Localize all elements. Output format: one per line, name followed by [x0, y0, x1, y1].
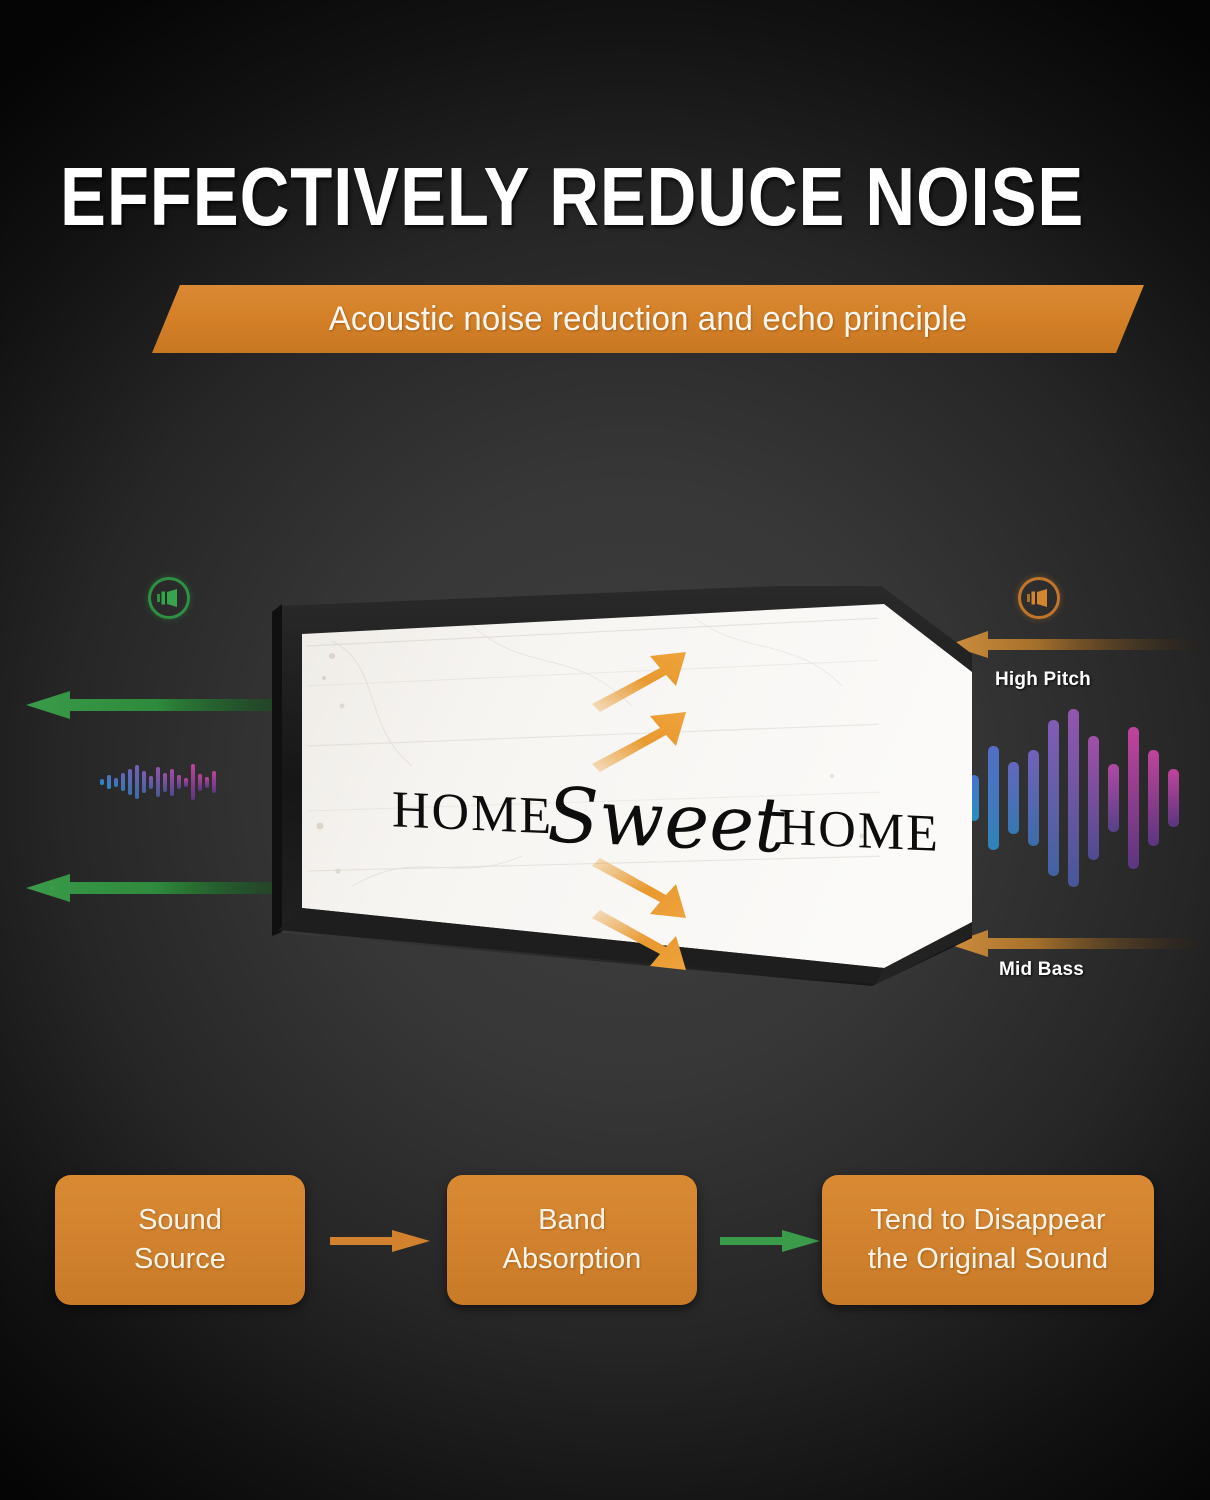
waveform-bar [212, 771, 216, 793]
waveform-bar [1168, 769, 1179, 827]
waveform-bar [1028, 750, 1039, 846]
flow-step-3-line2: the Original Sound [868, 1243, 1108, 1275]
flow-arrow-1 [330, 1229, 430, 1253]
flow-step-3-line1: Tend to Disappear [870, 1204, 1105, 1236]
home-sweet-home-sign: HOMESweetHOME [272, 586, 972, 1006]
waveform-bar [121, 773, 125, 791]
subtitle-banner: Acoustic noise reduction and echo princi… [152, 285, 1144, 353]
absorption-arrow-4 [590, 906, 710, 986]
waveform-bar [1148, 750, 1159, 846]
absorption-arrow-2 [590, 698, 710, 778]
speaker-green-icon [148, 577, 190, 619]
subtitle-banner-label: Acoustic noise reduction and echo princi… [167, 285, 1129, 353]
flow-step-sound-source[interactable]: Sound Source [55, 1175, 305, 1305]
high-pitch-label: High Pitch [995, 669, 1091, 691]
waveform-bar [142, 771, 146, 793]
waveform-bar [198, 774, 202, 791]
waveform-bar [107, 775, 111, 789]
mid-bass-arrow [948, 927, 1198, 957]
waveform-bar [135, 765, 139, 799]
waveform-bar [205, 777, 209, 788]
waveform-bar [184, 778, 188, 787]
waveform-bar [170, 769, 174, 796]
page-title: EFFECTIVELY REDUCE NOISE [60, 158, 1084, 237]
waveform-bar [988, 746, 999, 850]
waveform-bar [156, 767, 160, 797]
flow-step-disappear[interactable]: Tend to Disappear the Original Sound [822, 1175, 1154, 1305]
waveform-bar [1108, 764, 1119, 832]
infographic-canvas: EFFECTIVELY REDUCE NOISE Acoustic noise … [0, 0, 1210, 1500]
waveform-bar [163, 773, 167, 792]
waveform-bar [1128, 727, 1139, 869]
waveform-small [100, 752, 219, 812]
waveform-bar [1088, 736, 1099, 860]
flow-step-1-line1: Sound [138, 1204, 222, 1236]
flow-step-band-absorption[interactable]: Band Absorption [447, 1175, 697, 1305]
high-pitch-arrow [948, 628, 1198, 658]
waveform-bar [1068, 709, 1079, 887]
flow-step-2-line2: Absorption [503, 1243, 642, 1275]
speaker-orange-icon [1018, 577, 1060, 619]
waveform-bar [149, 776, 153, 789]
waveform-bar [114, 778, 118, 787]
waveform-bar [1008, 762, 1019, 834]
flow-step-1-line2: Source [134, 1243, 226, 1275]
waveform-bar [128, 769, 132, 795]
process-flow: Sound Source Band Absorption Tend to Dis… [0, 1175, 1210, 1305]
waveform-bar [1048, 720, 1059, 876]
waveform-bar [177, 775, 181, 789]
waveform-bar [100, 779, 104, 785]
mid-bass-label: Mid Bass [999, 959, 1084, 981]
waveform-large [968, 708, 1188, 888]
flow-arrow-2 [720, 1229, 820, 1253]
waveform-bar [191, 764, 195, 800]
flow-step-2-line1: Band [538, 1204, 606, 1236]
